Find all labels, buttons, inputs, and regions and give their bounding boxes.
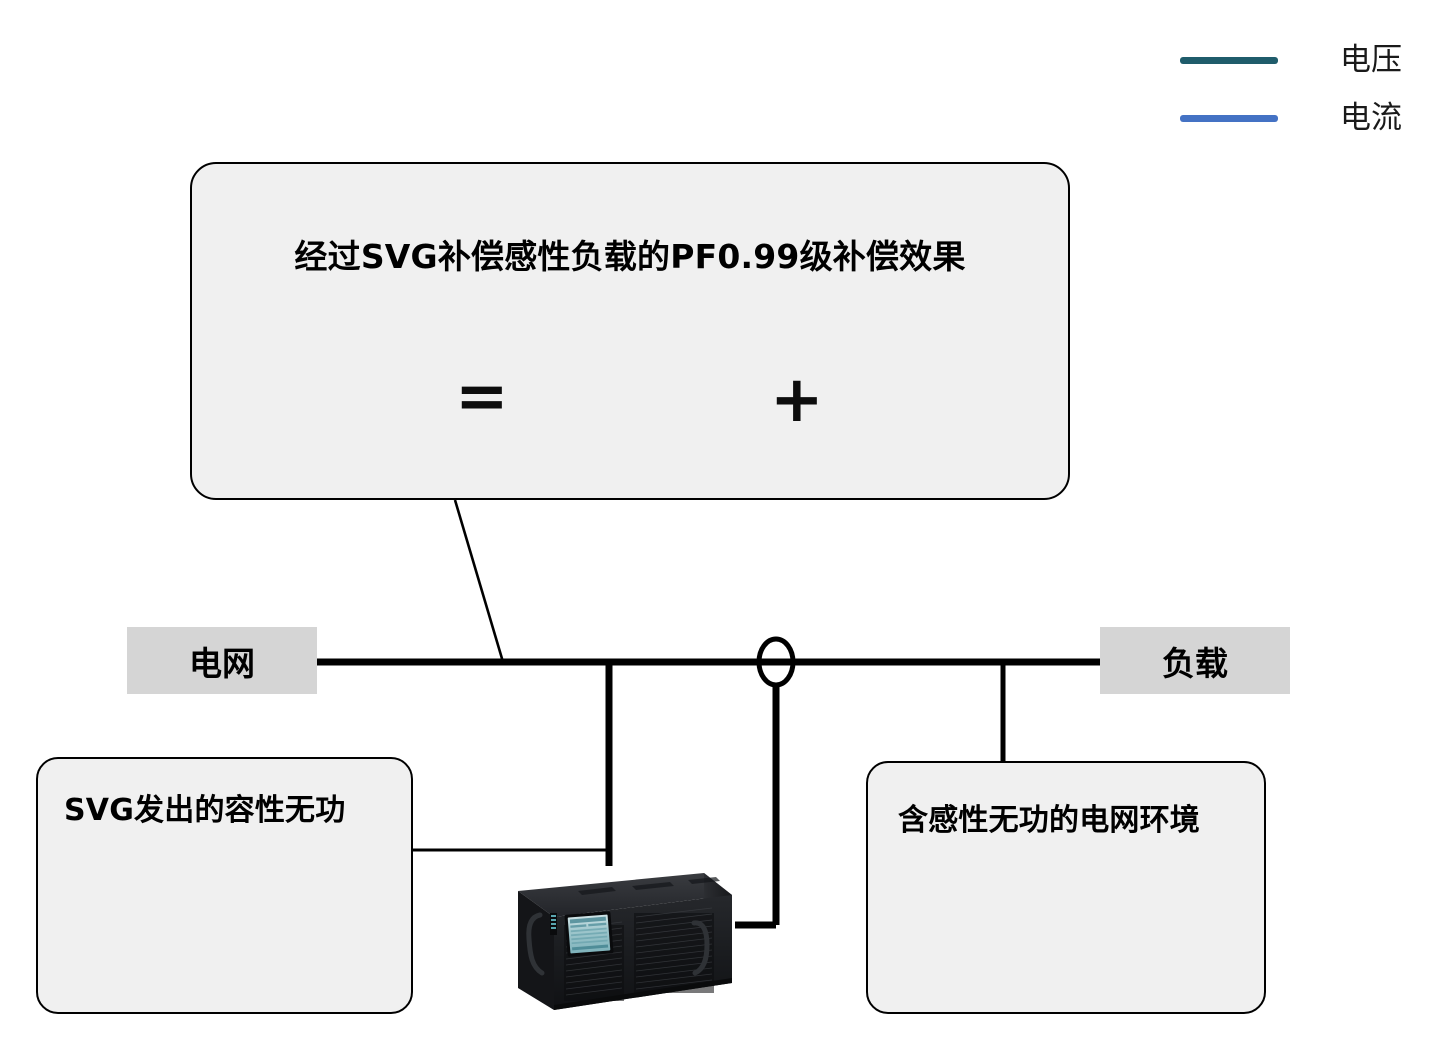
legend: 电压 电流 [1180,18,1430,128]
compensation-effect-title: 经过SVG补偿感性负载的PF0.99级补偿效果 [192,230,1068,278]
diagram-canvas: 电压 电流 经过SVG补偿感性负载的PF0.99级补偿效果 = + 电网 负载 … [0,0,1433,1060]
legend-label-current: 电流 [1340,103,1402,134]
legend-label-voltage: 电压 [1340,45,1402,76]
grid-environment-title: 含感性无功的电网环境 [868,795,1264,839]
svg-capacitive-output-panel: SVG发出的容性无功 [36,757,413,1014]
device-indicator-strip [550,913,557,935]
svg-capacitive-output-title: SVG发出的容性无功 [38,785,411,829]
compensation-effect-panel: 经过SVG补偿感性负载的PF0.99级补偿效果 [190,162,1070,500]
legend-swatch-current [1180,115,1278,122]
device-lcd-screen[interactable] [564,911,613,956]
bus-label-grid: 电网 [127,627,317,694]
equals-operator: = [455,365,509,429]
bus-label-load: 负载 [1100,627,1290,694]
legend-item-current: 电流 [1180,96,1430,140]
grid-environment-panel: 含感性无功的电网环境 [866,761,1266,1014]
legend-swatch-voltage [1180,57,1278,64]
svg-rack-unit-image [492,855,742,1015]
legend-item-voltage: 电压 [1180,38,1430,82]
leader-line-top-panel [455,500,503,662]
device-vent-grille-right [634,908,714,993]
plus-operator: + [770,368,824,432]
